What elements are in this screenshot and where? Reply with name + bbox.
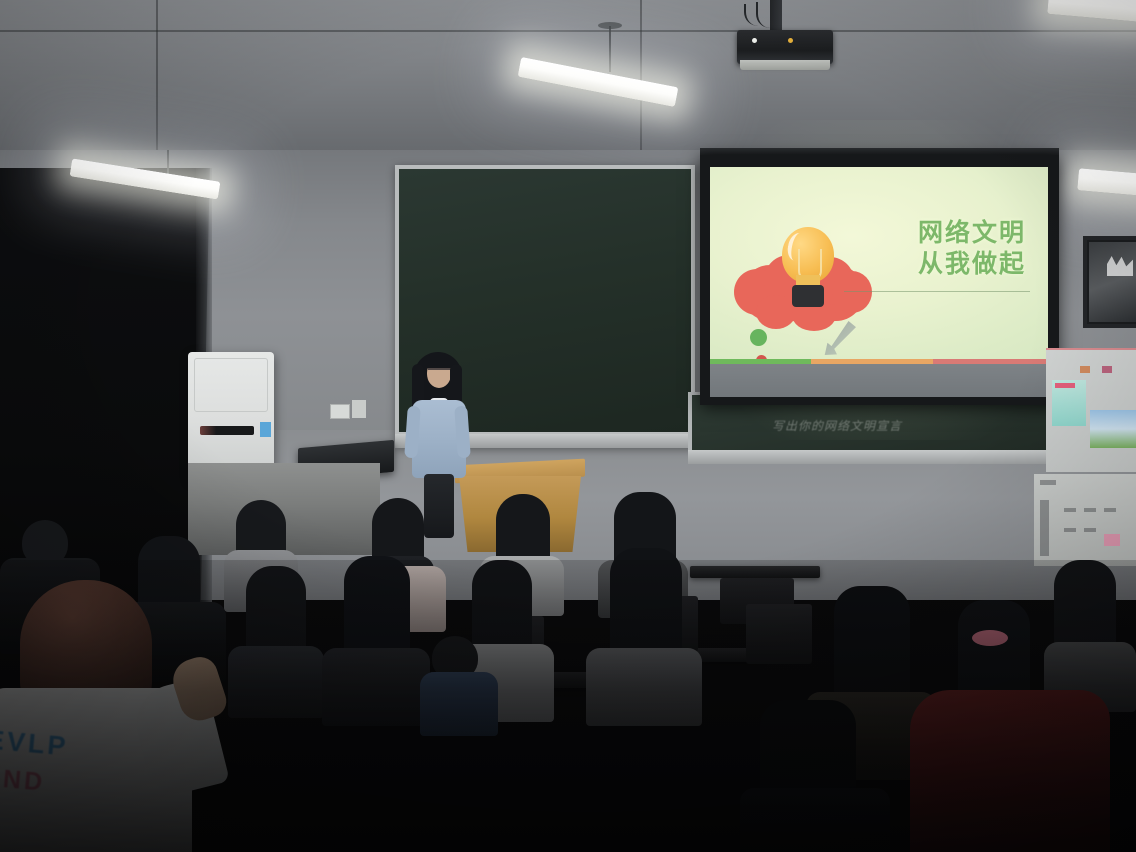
student-hair — [246, 566, 306, 658]
student-long-hair — [322, 648, 430, 726]
projector-power-led — [752, 38, 757, 43]
classroom-photo: 写出你的网络文明宣言 — [0, 0, 1136, 852]
light-hanger-center — [609, 26, 611, 72]
jacket-text-blue: EVLP — [0, 724, 70, 762]
ac-panel — [194, 358, 268, 412]
bulletin-board — [1046, 348, 1136, 472]
schedule-cell — [1084, 528, 1096, 532]
table-row — [690, 566, 820, 578]
slide-title-line2: 从我做起 — [918, 250, 1026, 281]
list-item — [740, 700, 890, 852]
student-hair — [610, 548, 682, 660]
ac-brand-label — [260, 422, 271, 437]
schedule-cell — [1084, 508, 1096, 512]
lightbulb-base — [792, 285, 824, 307]
accent-dot-green — [750, 329, 767, 346]
list-item — [586, 548, 702, 724]
schedule-cell — [1064, 528, 1076, 532]
audience-member-red-jacket — [910, 690, 1110, 852]
student-hair — [1054, 560, 1116, 652]
list-item — [228, 566, 324, 716]
screen-lower-band — [710, 364, 1048, 397]
wall-outlet[interactable] — [330, 404, 350, 419]
ceiling-projector[interactable] — [737, 30, 833, 64]
projector-lens-strip — [740, 60, 830, 70]
floor-standing-air-conditioner[interactable] — [188, 352, 274, 478]
jacket-text-pink: AND — [0, 763, 46, 797]
slide-title-line1: 网络文明 — [918, 219, 1026, 250]
picture-glare — [1107, 256, 1133, 276]
framed-picture-image — [1089, 242, 1136, 322]
slide-title: 网络文明 从我做起 — [918, 219, 1026, 280]
student-hair — [834, 586, 910, 704]
wall-switch[interactable] — [352, 400, 366, 418]
ceiling-seam-vertical-left — [156, 0, 158, 150]
student-dark-coat — [740, 788, 890, 852]
chair-back — [746, 604, 812, 664]
slide-graphic-lightbulb-cloud — [734, 209, 884, 359]
schedule-column — [1040, 500, 1049, 556]
list-item — [1044, 560, 1136, 710]
poster-tag-orange — [1080, 366, 1090, 373]
ceiling-seam — [0, 30, 1136, 32]
schedule-header-cell — [1040, 480, 1056, 485]
presenter-hair-front — [424, 354, 454, 368]
glasses-icon — [428, 368, 450, 376]
student-hair — [344, 556, 410, 660]
student-hair — [760, 700, 856, 800]
poster-header-red — [1055, 383, 1075, 388]
student-beige-top — [586, 648, 702, 726]
class-schedule-chart — [1034, 474, 1136, 566]
hair-tie — [972, 630, 1008, 646]
framed-wall-picture — [1083, 236, 1136, 328]
list-item — [420, 636, 498, 732]
ac-vent — [200, 426, 254, 435]
student-blue-jacket — [420, 672, 498, 736]
slide-surface: 网络文明 从我做起 — [710, 167, 1048, 397]
list-item — [322, 556, 430, 722]
chalk-writing: 写出你的网络文明宣言 — [772, 417, 902, 434]
projector-status-led — [788, 38, 793, 43]
schedule-cell — [1104, 508, 1116, 512]
chalk-tray-right — [688, 450, 1050, 464]
schedule-cell — [1064, 508, 1076, 512]
schedule-highlight — [1104, 534, 1120, 546]
projection-screen[interactable]: 网络文明 从我做起 — [700, 155, 1059, 405]
landscape-poster — [1090, 410, 1136, 448]
student-dark-coat — [228, 646, 324, 718]
audience-member-white-jacket: EVLP AND — [0, 580, 240, 852]
slide-title-underline — [844, 291, 1030, 292]
poster-tag-pink — [1102, 366, 1112, 373]
cloud-lobe — [832, 271, 872, 313]
cloud-lobe — [756, 295, 796, 329]
presenter-arm-right — [454, 406, 471, 459]
